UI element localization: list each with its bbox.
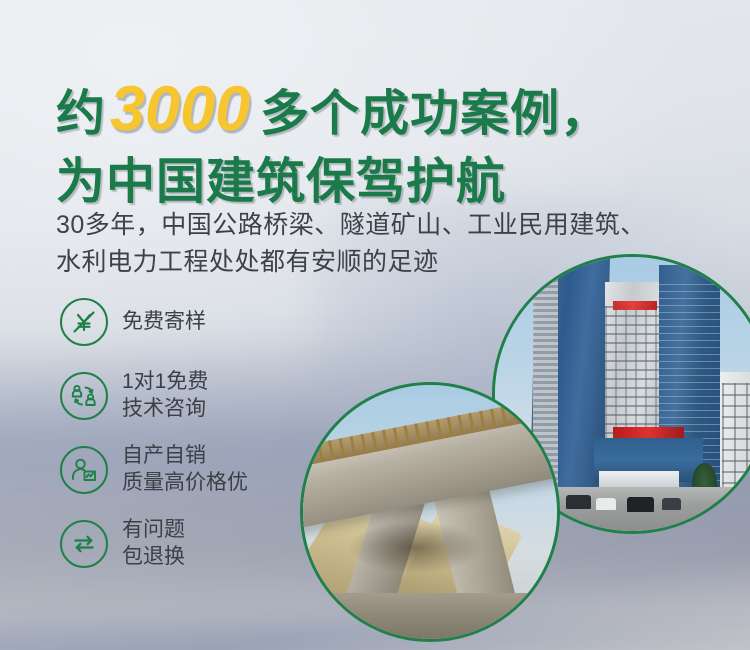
building-car <box>566 495 591 509</box>
feature-item-consulting: 1对1免费 技术咨询 <box>60 370 248 422</box>
person-chart-icon <box>60 446 108 494</box>
feature-list: 免费寄样 1对1免 <box>60 296 248 592</box>
feature-label-consulting: 1对1免费 技术咨询 <box>122 369 208 423</box>
subtitle-line-1: 30多年，中国公路桥梁、隧道矿山、工业民用建筑、 <box>56 208 646 244</box>
feature-item-returns: 有问题 包退换 <box>60 518 248 570</box>
building-facade-sign <box>613 427 684 438</box>
bridge-photo <box>300 382 560 642</box>
bridge-photo-content <box>303 385 557 639</box>
feature-label-returns: 有问题 包退换 <box>122 517 185 571</box>
bridge-underside-shadow <box>349 522 481 573</box>
building-car <box>627 497 654 512</box>
feature-label-free-sample: 免费寄样 <box>122 309 206 336</box>
feature-item-free-sample: 免费寄样 <box>60 296 248 348</box>
headline-prefix: 约 <box>56 90 106 139</box>
feature-line-1: 有问题 <box>122 518 185 541</box>
feature-line-1: 自产自销 <box>122 444 206 467</box>
building-car <box>662 498 681 510</box>
promo-banner: 约 3000 多个成功案例， 为中国建筑保驾护航 30多年，中国公路桥梁、隧道矿… <box>0 0 750 650</box>
no-fee-yen-icon <box>60 298 108 346</box>
feature-line-1: 免费寄样 <box>122 310 206 333</box>
feature-item-self-production: 自产自销 质量高价格优 <box>60 444 248 496</box>
exchange-arrows-icon <box>60 520 108 568</box>
bridge-ground <box>303 593 557 639</box>
feature-label-self-production: 自产自销 质量高价格优 <box>122 443 248 497</box>
feature-line-2: 包退换 <box>122 544 185 571</box>
feature-line-2: 技术咨询 <box>122 396 208 423</box>
two-person-exchange-icon <box>60 372 108 420</box>
headline-line-1: 约 3000 多个成功案例， <box>56 78 610 141</box>
feature-line-2: 质量高价格优 <box>122 470 248 497</box>
headline-line-2: 为中国建筑保驾护航 <box>56 142 506 213</box>
feature-line-1: 1对1免费 <box>122 370 208 393</box>
building-rooftop-sign <box>613 301 657 311</box>
building-car <box>596 498 615 510</box>
headline-suffix: 多个成功案例， <box>260 90 610 139</box>
headline-number: 3000 <box>106 78 260 141</box>
